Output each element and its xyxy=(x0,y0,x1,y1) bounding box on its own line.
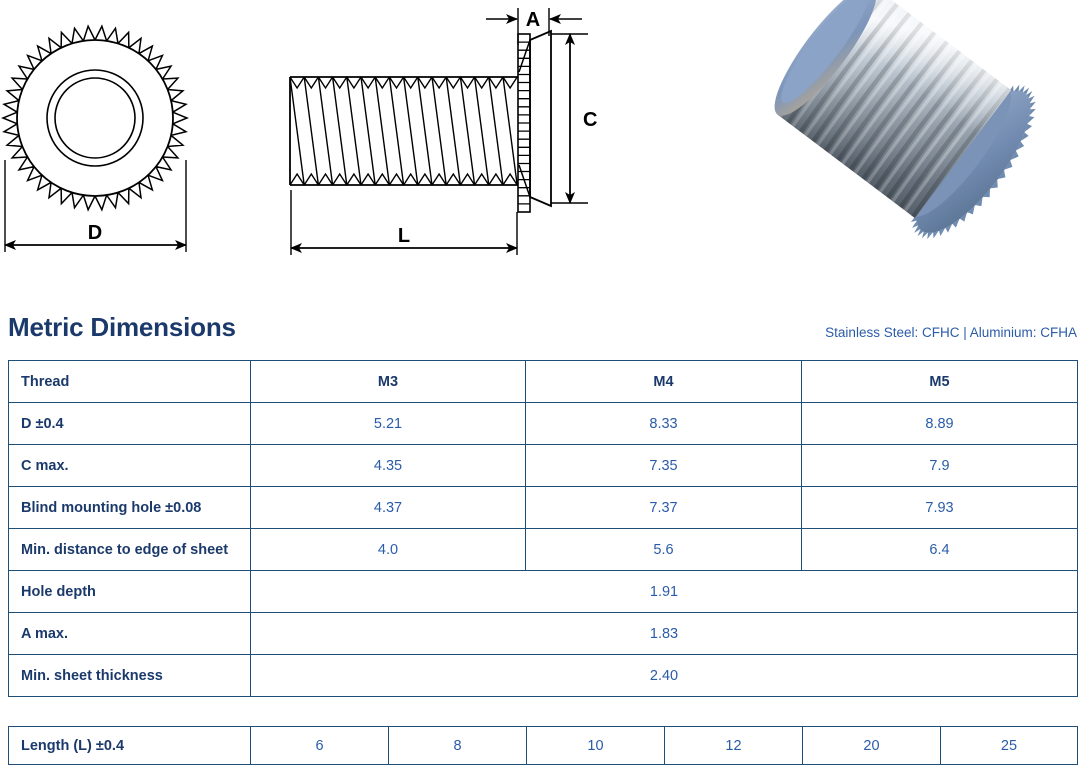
knurled-head-top-view: D xyxy=(3,26,187,252)
table-cell-merged: 2.40 xyxy=(251,655,1078,697)
head-fillet-bottom xyxy=(519,165,530,197)
table-cell: 7.93 xyxy=(802,487,1078,529)
stud-body xyxy=(770,0,1057,255)
length-option-cell: 20 xyxy=(803,727,941,765)
table-row: Hole depth1.91 xyxy=(9,571,1078,613)
table-cell: 4.37 xyxy=(251,487,526,529)
length-option-cell: 12 xyxy=(665,727,803,765)
table-row: Min. distance to edge of sheet4.05.66.4 xyxy=(9,529,1078,571)
column-header-m4: M4 xyxy=(526,361,802,403)
l-dimension-label: L xyxy=(398,225,410,247)
row-label: Min. distance to edge of sheet xyxy=(9,529,251,571)
knurl-collar xyxy=(518,34,530,212)
table-row: Min. sheet thickness2.40 xyxy=(9,655,1078,697)
table-row: A max.1.83 xyxy=(9,613,1078,655)
self-clinching-stud-3d-render xyxy=(770,0,1085,255)
column-header-m5: M5 xyxy=(802,361,1078,403)
table-cell-merged: 1.83 xyxy=(251,613,1078,655)
row-label: Hole depth xyxy=(9,571,251,613)
column-header-m3: M3 xyxy=(251,361,526,403)
length-row-label: Length (L) ±0.4 xyxy=(9,727,251,765)
table-cell: 5.6 xyxy=(526,529,802,571)
table-cell-merged: 1.91 xyxy=(251,571,1078,613)
row-label: A max. xyxy=(9,613,251,655)
length-options-table-body: Length (L) ±0.46810122025 xyxy=(9,727,1078,765)
material-codes: Stainless Steel: CFHC | Aluminium: CFHA xyxy=(825,325,1077,340)
section-header: Metric Dimensions Stainless Steel: CFHC … xyxy=(0,312,1085,354)
row-label: C max. xyxy=(9,445,251,487)
table-cell: 7.35 xyxy=(526,445,802,487)
row-label: Blind mounting hole ±0.08 xyxy=(9,487,251,529)
table-cell: 6.4 xyxy=(802,529,1078,571)
head-inner-circle-inner xyxy=(55,78,135,158)
table-row: C max.4.357.357.9 xyxy=(9,445,1078,487)
head-fillet-top xyxy=(519,40,530,72)
table-cell: 7.9 xyxy=(802,445,1078,487)
threaded-stud-side-view: L C A xyxy=(290,8,597,255)
metric-dimensions-table-body: ThreadM3M4M5D ±0.45.218.338.89C max.4.35… xyxy=(9,361,1078,697)
length-options-table: Length (L) ±0.46810122025 xyxy=(8,726,1078,765)
a-dimension-label: A xyxy=(526,9,540,31)
c-dimension-label: C xyxy=(583,109,597,131)
head-taper-profile xyxy=(530,31,551,206)
metric-dimensions-table: ThreadM3M4M5D ±0.45.218.338.89C max.4.35… xyxy=(8,360,1078,697)
length-row: Length (L) ±0.46810122025 xyxy=(9,727,1078,765)
thread-profile xyxy=(290,77,517,185)
page-title: Metric Dimensions xyxy=(8,312,236,343)
serration-ring xyxy=(3,26,187,209)
d-dimension-label: D xyxy=(88,222,102,244)
table-header-row: ThreadM3M4M5 xyxy=(9,361,1078,403)
table-cell: 7.37 xyxy=(526,487,802,529)
table-row: Blind mounting hole ±0.084.377.377.93 xyxy=(9,487,1078,529)
column-header-thread: Thread xyxy=(9,361,251,403)
table-cell: 5.21 xyxy=(251,403,526,445)
head-inner-circle-outer xyxy=(47,70,143,166)
table-cell: 4.0 xyxy=(251,529,526,571)
length-option-cell: 8 xyxy=(389,727,527,765)
length-option-cell: 25 xyxy=(941,727,1078,765)
row-label: D ±0.4 xyxy=(9,403,251,445)
table-cell: 4.35 xyxy=(251,445,526,487)
length-option-cell: 6 xyxy=(251,727,389,765)
table-row: D ±0.45.218.338.89 xyxy=(9,403,1078,445)
head-root-circle xyxy=(17,40,173,196)
render-svg xyxy=(770,0,1085,255)
table-cell: 8.33 xyxy=(526,403,802,445)
table-cell: 8.89 xyxy=(802,403,1078,445)
length-option-cell: 10 xyxy=(527,727,665,765)
row-label: Min. sheet thickness xyxy=(9,655,251,697)
